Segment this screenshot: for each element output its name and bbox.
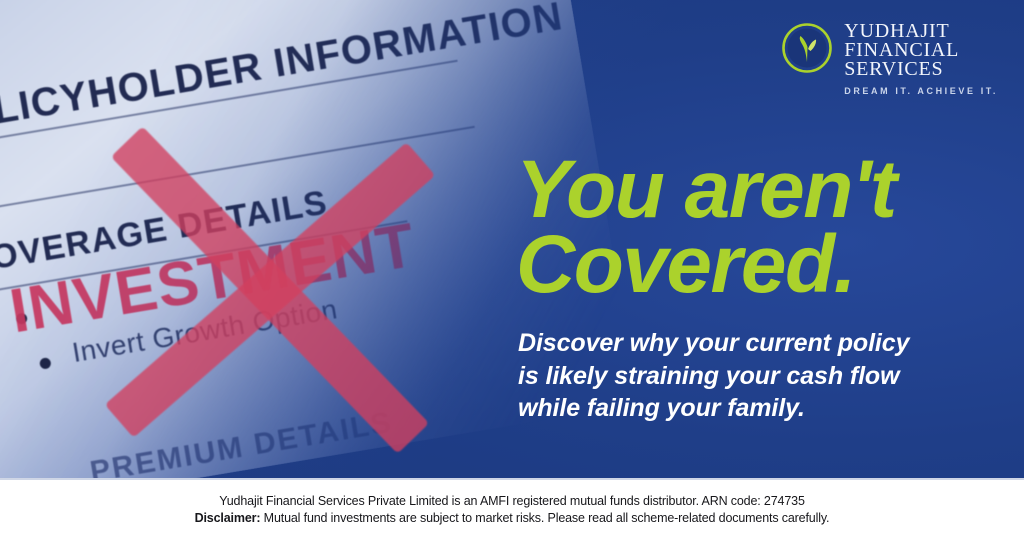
advertisement-banner: POLICYHOLDER INFORMATION COVERAGE DETAIL… [0,0,1024,538]
policy-document-photo: POLICYHOLDER INFORMATION COVERAGE DETAIL… [0,0,590,490]
brand-name-line-3: SERVICES [844,60,998,79]
footer-disclaimer-text: Mutual fund investments are subject to m… [260,511,829,525]
subheadline: Discover why your current policy is like… [518,327,958,425]
document-bullet-marker [39,357,52,370]
footer-disclaimer-bar: Yudhajit Financial Services Private Limi… [0,480,1024,538]
brand-logo-text: YUDHAJIT FINANCIAL SERVICES DREAM IT. AC… [844,22,998,96]
headline-line-2: Covered. [516,227,996,302]
footer-disclaimer-line: Disclaimer: Mutual fund investments are … [195,511,830,525]
subheadline-line-3: while failing your family. [518,392,958,425]
headline: You aren't Covered. [516,152,996,303]
brand-logo[interactable]: YUDHAJIT FINANCIAL SERVICES DREAM IT. AC… [781,22,998,96]
headline-line-1: You aren't [516,152,996,227]
footer-registration-line: Yudhajit Financial Services Private Limi… [219,494,805,508]
subheadline-line-2: is likely straining your cash flow [518,360,958,393]
subheadline-line-1: Discover why your current policy [518,327,958,360]
yudhajit-leaf-circle-icon [781,22,833,74]
brand-tagline: DREAM IT. ACHIEVE IT. [844,86,998,96]
footer-disclaimer-label: Disclaimer: [195,511,261,525]
